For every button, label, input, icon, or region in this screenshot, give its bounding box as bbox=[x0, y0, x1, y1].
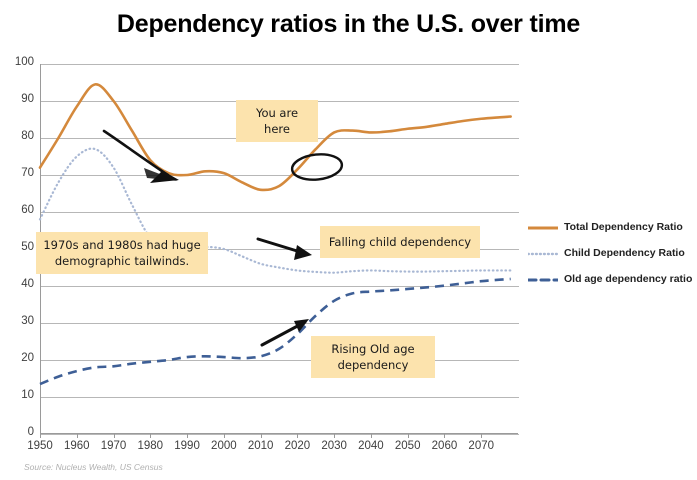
annotation-rising-oldage: Rising Old age dependency bbox=[311, 336, 435, 378]
arrow-falling-child-icon bbox=[258, 239, 312, 260]
source-note: Source: Nucleus Wealth, US Census bbox=[24, 462, 163, 472]
annotation-tailwinds-text: 1970s and 1980s had huge demographic tai… bbox=[43, 238, 200, 268]
annotation-tailwinds: 1970s and 1980s had huge demographic tai… bbox=[36, 232, 208, 274]
annotation-falling-child-text: Falling child dependency bbox=[329, 235, 471, 249]
annotation-rising-oldage-text: Rising Old age dependency bbox=[331, 342, 414, 372]
annotation-you-are-here-text: You are here bbox=[256, 106, 298, 136]
legend-key-icon bbox=[528, 221, 558, 233]
legend-item-label: Total Dependency Ratio bbox=[564, 221, 683, 233]
legend-item-label: Child Dependency Ratio bbox=[564, 247, 685, 259]
legend-item-label: Old age dependency ratio bbox=[564, 273, 692, 285]
legend-item-1: Total Dependency Ratio bbox=[528, 220, 697, 234]
annotation-falling-child: Falling child dependency bbox=[320, 226, 480, 258]
legend-key-icon bbox=[528, 247, 558, 259]
legend-key-icon bbox=[528, 273, 558, 285]
you-are-here-ellipse-icon bbox=[291, 152, 343, 182]
legend-item-2: Child Dependency Ratio bbox=[528, 246, 697, 260]
legend: Total Dependency RatioChild Dependency R… bbox=[528, 220, 697, 298]
arrow-rising-oldage-icon bbox=[262, 319, 309, 345]
annotation-you-are-here: You are here bbox=[236, 100, 318, 142]
chart-container: Dependency ratios in the U.S. over time … bbox=[0, 0, 697, 480]
legend-item-3: Old age dependency ratio bbox=[528, 272, 697, 286]
arrow-tailwinds-icon bbox=[104, 131, 179, 183]
